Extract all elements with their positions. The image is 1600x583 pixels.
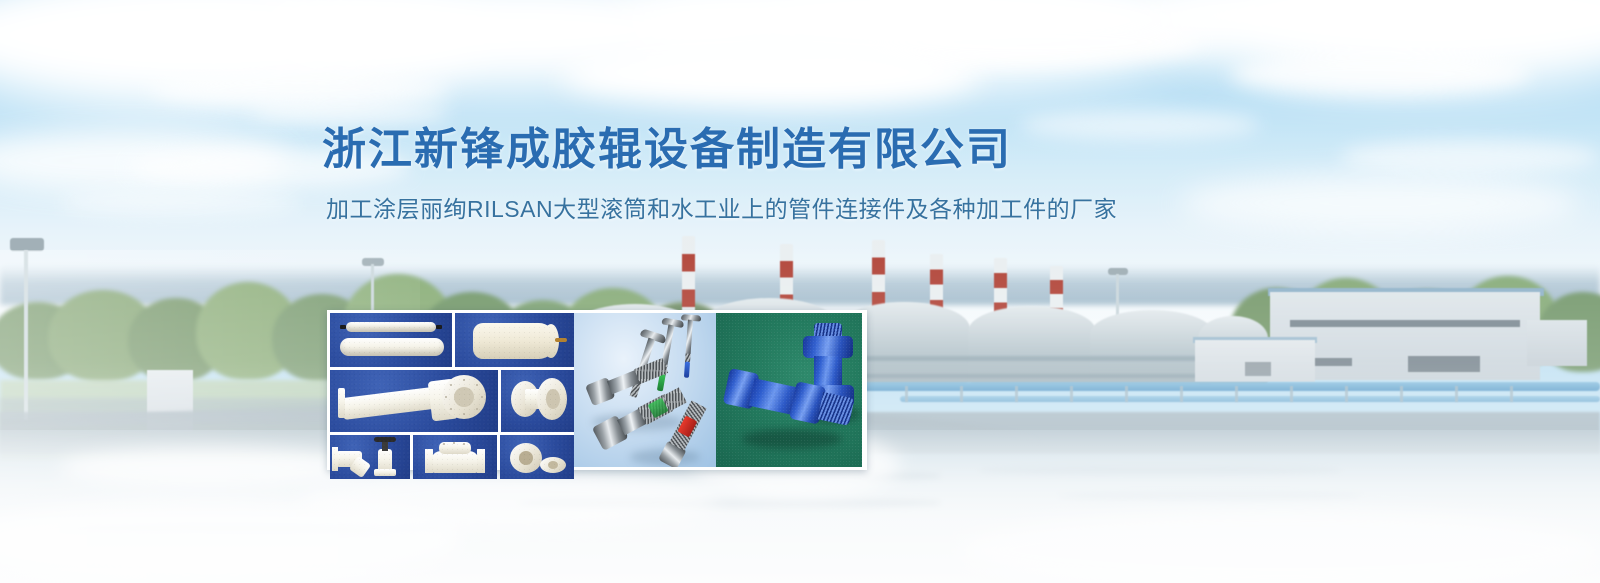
product-cell-strainer-and-gate-valve[interactable] [330, 435, 410, 479]
product-cell-flanged-elbow[interactable] [330, 370, 498, 432]
hero-text-block: 浙江新锋成胶辊设备制造有限公司 加工涂层丽绚RILSAN大型滚筒和水工业上的管件… [322, 125, 1222, 224]
storage-tank [968, 306, 1096, 384]
cloud [250, 100, 450, 126]
bolt-blue-tip[interactable] [676, 314, 709, 382]
product-cell-flanged-spool[interactable] [501, 370, 574, 432]
water-foam [960, 510, 1600, 583]
window-strip [1408, 356, 1480, 372]
page-subtitle: 加工涂层丽绚RILSAN大型滚筒和水工业上的管件连接件及各种加工件的厂家 [326, 190, 1222, 224]
cloud [1230, 52, 1530, 96]
collage-panel-chrome-bolts[interactable] [574, 313, 716, 467]
window-strip [1290, 320, 1520, 327]
cloud [1340, 140, 1600, 174]
collage-panel-pipe-fittings[interactable] [330, 313, 574, 467]
blue-bolt-lying[interactable] [719, 362, 858, 446]
page-title: 浙江新锋成胶辊设备制造有限公司 [322, 125, 1222, 174]
hero-banner: 浙江新锋成胶辊设备制造有限公司 加工涂层丽绚RILSAN大型滚筒和水工业上的管件… [0, 0, 1600, 583]
blue-pipe-railing [900, 396, 1600, 402]
collage-panel-blue-bolts[interactable] [716, 313, 862, 467]
street-lamp-pole [24, 250, 28, 420]
product-cell-perforated-core[interactable] [455, 313, 574, 367]
product-cell-coated-roller[interactable] [330, 313, 452, 367]
cloud [1180, 175, 1580, 231]
cloud [860, 18, 1200, 66]
blue-bolt-upright[interactable] [798, 323, 862, 423]
product-cell-check-valve[interactable] [413, 435, 497, 479]
window-strip [1245, 362, 1271, 376]
blue-pipe-railing [860, 382, 1600, 391]
plant-side-building [1527, 320, 1587, 366]
product-collage[interactable] [327, 310, 867, 470]
water-foam [60, 448, 360, 488]
product-cell-butterfly-valve[interactable] [500, 435, 574, 479]
cloud [60, 190, 300, 216]
